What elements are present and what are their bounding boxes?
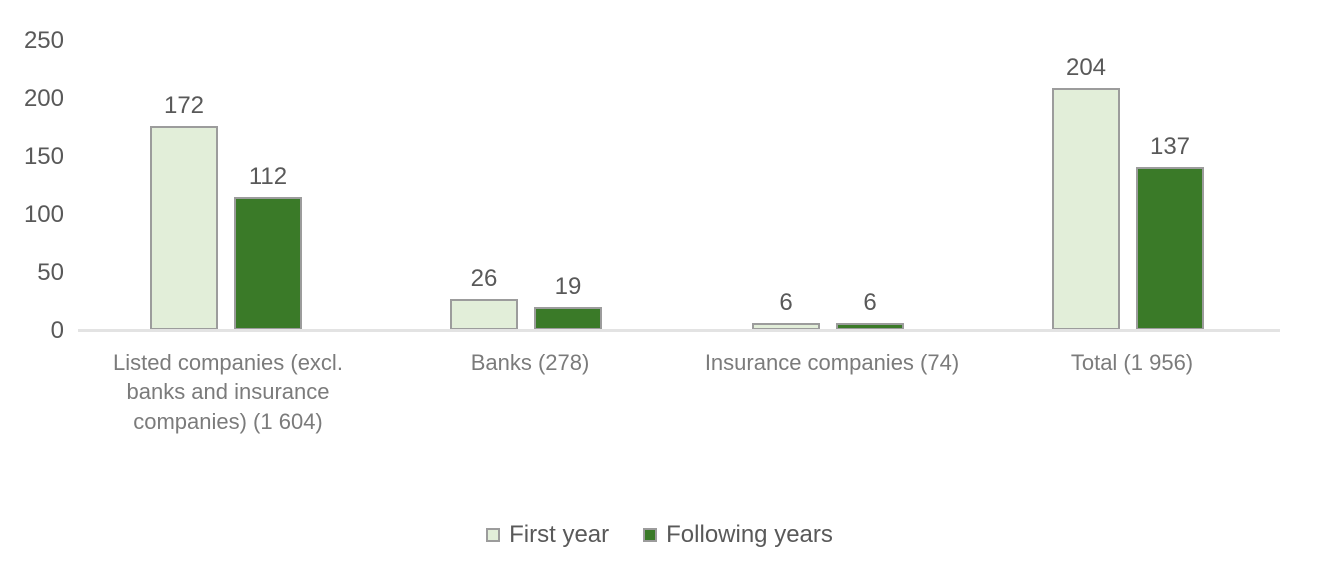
bar-value-listed-companies-first-year: 172 [150,94,218,118]
bar-group-total: 204 137 [1052,33,1204,330]
bar-group-banks: 26 19 [450,33,602,330]
bar-listed-companies-following-years[interactable] [234,197,302,330]
bar-value-insurance-companies-following-years: 6 [836,291,904,315]
category-label-line: Listed companies (excl. [78,348,378,377]
legend-item-first-year[interactable]: First year [486,523,609,547]
category-label-line: companies) (1 604) [78,407,378,436]
category-label-banks: Banks (278) [380,348,680,377]
bar-total-following-years[interactable] [1136,167,1204,330]
bar-listed-companies-first-year[interactable] [150,126,218,330]
category-label-listed-companies: Listed companies (excl. banks and insura… [78,348,378,436]
y-tick-label-100: 100 [0,203,64,227]
y-tick-label-200: 200 [0,87,64,111]
plot-area: 172 112 26 19 6 6 204 137 [78,33,1280,330]
bar-total-first-year[interactable] [1052,88,1120,330]
bar-group-insurance-companies: 6 6 [752,33,904,330]
bar-banks-first-year[interactable] [450,299,518,330]
category-label-total: Total (1 956) [982,348,1282,377]
y-tick-label-50: 50 [0,261,64,285]
bar-banks-following-years[interactable] [534,307,602,330]
chart-legend: First year Following years [0,523,1319,547]
y-axis: 250 200 150 100 50 0 [0,0,72,583]
bar-value-total-following-years: 137 [1136,135,1204,159]
bar-chart: 250 200 150 100 50 0 172 112 26 19 6 6 [0,0,1319,583]
category-label-line: Insurance companies (74) [682,348,982,377]
legend-swatch-icon-following-years [643,528,657,542]
x-axis-line [78,329,1280,332]
category-label-insurance-companies: Insurance companies (74) [682,348,982,377]
y-tick-label-0: 0 [0,319,64,343]
bar-value-total-first-year: 204 [1052,56,1120,80]
category-label-line: Banks (278) [380,348,680,377]
bar-value-banks-following-years: 19 [534,275,602,299]
category-label-line: banks and insurance [78,377,378,406]
legend-swatch-icon-first-year [486,528,500,542]
y-tick-label-250: 250 [0,29,64,53]
legend-label-following-years: Following years [666,523,833,547]
bar-value-insurance-companies-first-year: 6 [752,291,820,315]
y-tick-label-150: 150 [0,145,64,169]
legend-label-first-year: First year [509,523,609,547]
category-label-line: Total (1 956) [982,348,1282,377]
legend-item-following-years[interactable]: Following years [643,523,833,547]
bar-group-listed-companies: 172 112 [150,33,302,330]
bar-value-listed-companies-following-years: 112 [234,165,302,189]
bar-value-banks-first-year: 26 [450,267,518,291]
